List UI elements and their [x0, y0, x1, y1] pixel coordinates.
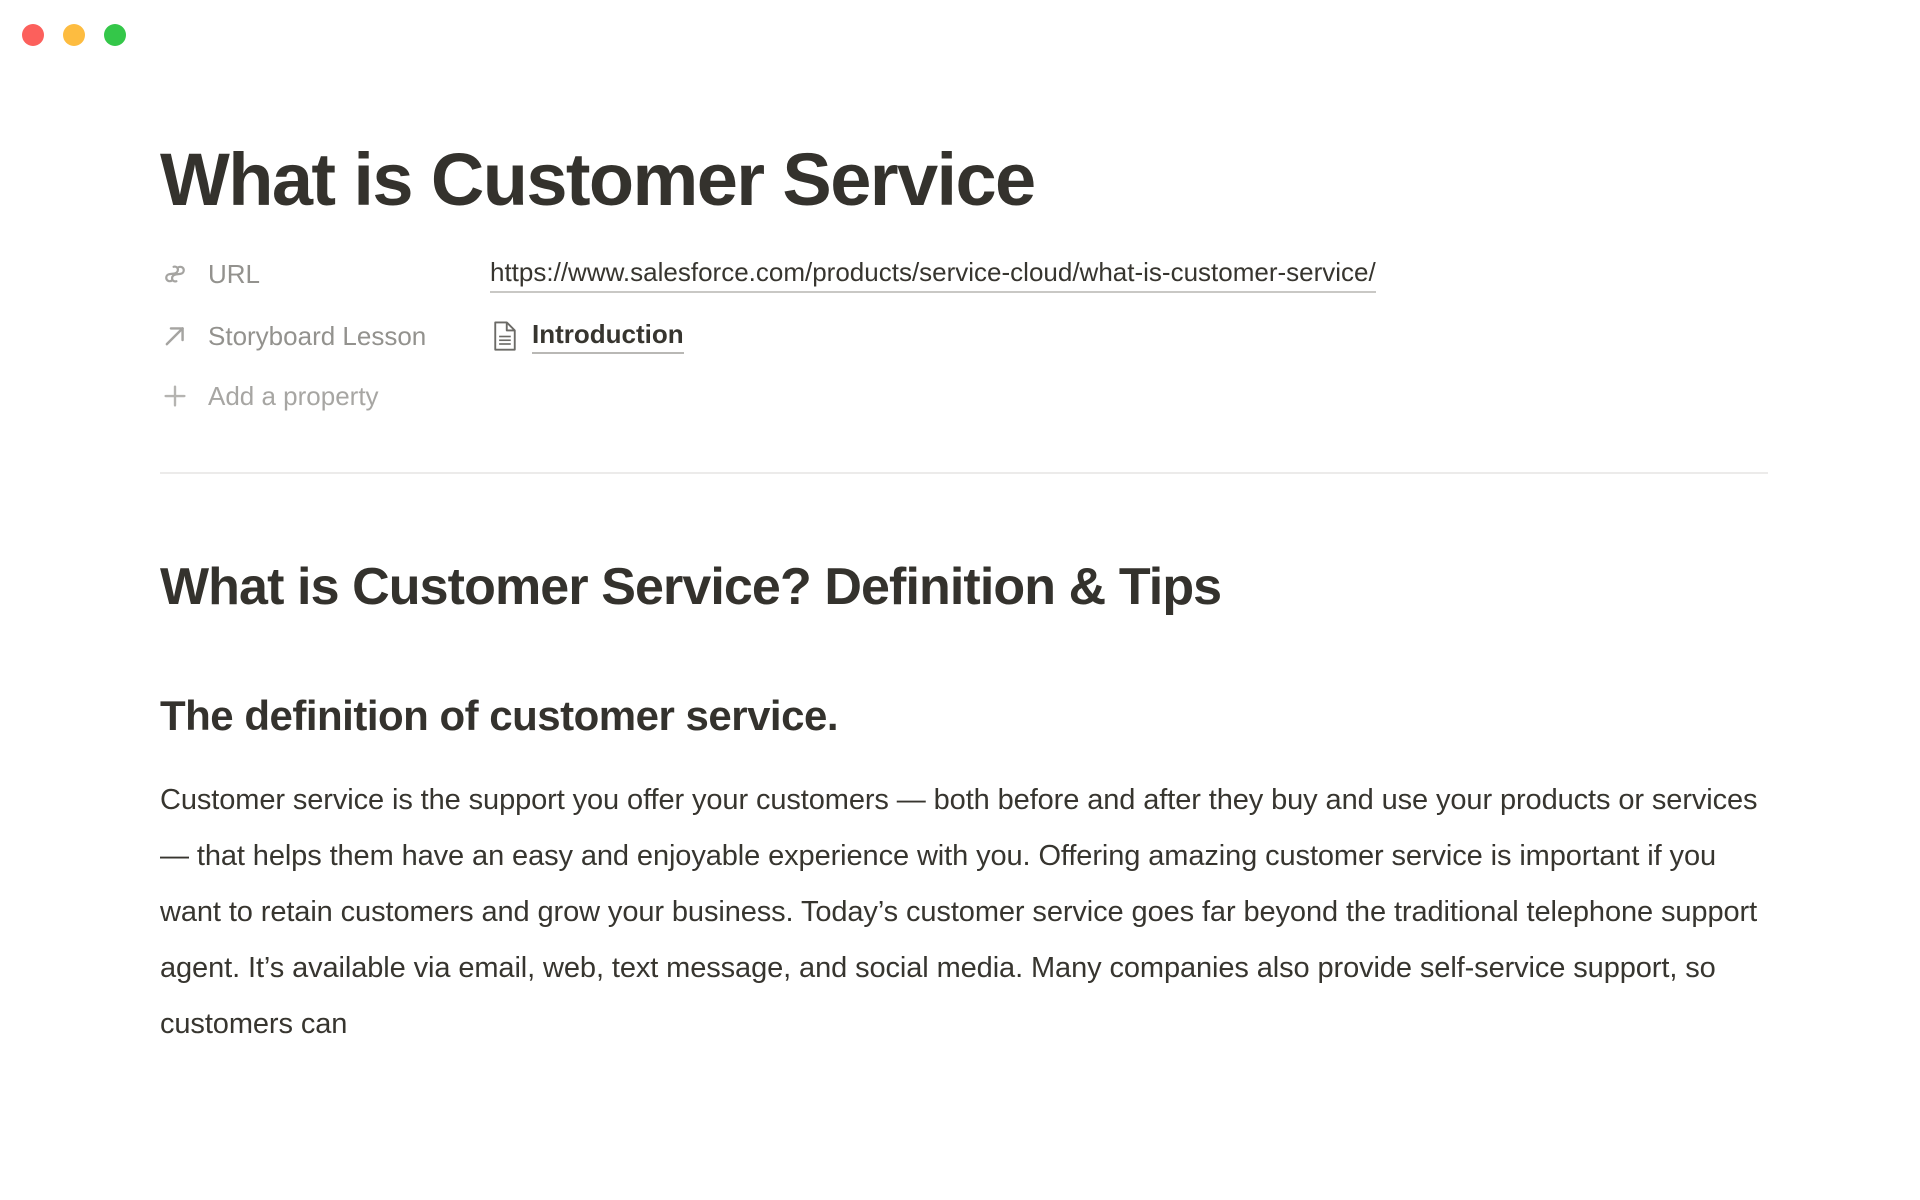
minimize-window-button[interactable]: [63, 24, 85, 46]
page-content: What is Customer Service URL https://www…: [160, 136, 1768, 1052]
maximize-window-button[interactable]: [104, 24, 126, 46]
property-value-url[interactable]: https://www.salesforce.com/products/serv…: [490, 256, 1376, 293]
property-label-url: URL: [208, 259, 260, 289]
url-link[interactable]: https://www.salesforce.com/products/serv…: [490, 256, 1376, 293]
property-row-url[interactable]: URL https://www.salesforce.com/products/…: [160, 248, 1768, 300]
property-row-storyboard-lesson[interactable]: Storyboard Lesson: [160, 310, 1768, 362]
add-property-label: Add a property: [208, 381, 379, 411]
app-window: What is Customer Service URL https://www…: [0, 0, 1920, 1200]
document-heading-2[interactable]: The definition of customer service.: [160, 690, 1768, 742]
document-body: What is Customer Service? Definition & T…: [160, 556, 1768, 1052]
link-icon: [160, 259, 190, 289]
add-property-button[interactable]: Add a property: [160, 372, 1768, 420]
traffic-lights: [22, 24, 126, 46]
property-key-url[interactable]: URL: [160, 259, 490, 289]
page-title[interactable]: What is Customer Service: [160, 136, 1768, 224]
document-heading-1[interactable]: What is Customer Service? Definition & T…: [160, 556, 1768, 618]
window-titlebar: [0, 0, 1920, 72]
properties-panel: URL https://www.salesforce.com/products/…: [160, 248, 1768, 420]
close-window-button[interactable]: [22, 24, 44, 46]
property-label-storyboard-lesson: Storyboard Lesson: [208, 321, 426, 351]
document-paragraph[interactable]: Customer service is the support you offe…: [160, 772, 1768, 1052]
arrow-up-right-icon: [160, 321, 190, 351]
plus-icon: [160, 381, 190, 411]
properties-divider: [160, 472, 1768, 474]
relation-link-label[interactable]: Introduction: [532, 318, 684, 354]
document-icon: [490, 319, 520, 353]
property-key-storyboard-lesson[interactable]: Storyboard Lesson: [160, 321, 490, 351]
property-value-storyboard-lesson[interactable]: Introduction: [490, 318, 684, 354]
relation-chip-introduction[interactable]: Introduction: [490, 318, 684, 354]
